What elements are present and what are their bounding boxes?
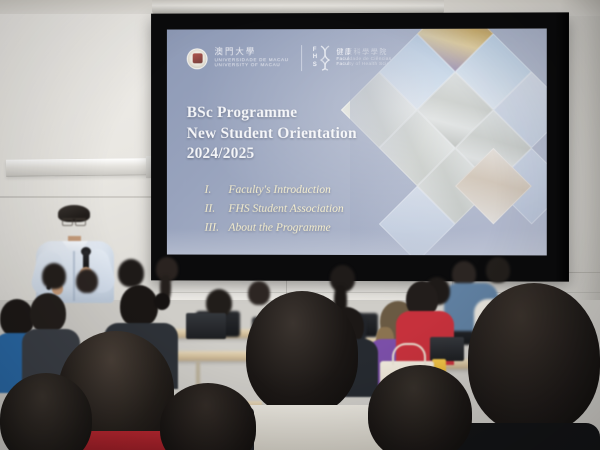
agenda-numeral: I. <box>205 181 229 200</box>
university-logo-text: 澳門大學 UNIVERSIDADE DE MACAU UNIVERSITY OF… <box>215 49 289 68</box>
agenda-item: I. Faculty's Introduction <box>205 181 344 200</box>
tote-bag-handle <box>392 343 426 365</box>
laptop <box>430 337 464 361</box>
logo-divider <box>301 45 302 71</box>
foreground-head-left-2 <box>160 383 256 450</box>
audience-head <box>120 285 158 327</box>
fhs-monogram: F H S <box>313 47 318 68</box>
whiteboard-marker-tray <box>6 158 152 177</box>
eyeglasses-icon <box>62 218 86 225</box>
audience-head <box>118 259 144 287</box>
presentation-slide: 澳門大學 UNIVERSIDADE DE MACAU UNIVERSITY OF… <box>167 28 547 255</box>
fhs-logo-mark: F H S <box>313 45 332 71</box>
lecture-hall-photo: 澳門大學 UNIVERSIDADE DE MACAU UNIVERSITY OF… <box>0 0 600 450</box>
agenda-item: II. FHS Student Association <box>205 200 344 219</box>
diamond-photo-mosaic <box>350 28 547 255</box>
audience-area <box>0 255 600 450</box>
slide-title: BSc Programme New Student Orientation 20… <box>187 103 357 165</box>
laptop <box>186 313 226 339</box>
um-crest-icon <box>187 48 208 69</box>
audience-hair-bun <box>154 293 170 310</box>
audience-head <box>42 263 66 289</box>
audience-head <box>76 269 98 293</box>
audience-head <box>486 257 510 283</box>
audience-head <box>30 293 66 333</box>
slide-title-line-2: New Student Orientation <box>187 124 357 145</box>
fhs-letter-f: F <box>313 47 318 54</box>
fhs-letter-s: S <box>313 62 318 69</box>
agenda-label: Faculty's Introduction <box>228 181 330 200</box>
agenda-numeral: II. <box>205 200 229 219</box>
foreground-head-center <box>246 291 358 415</box>
foreground-head-right <box>468 283 600 433</box>
dna-helix-icon <box>319 45 331 71</box>
slide-title-line-1: BSc Programme <box>187 103 357 124</box>
slide-title-line-3: 2024/2025 <box>187 144 357 165</box>
projection-screen: 澳門大學 UNIVERSIDADE DE MACAU UNIVERSITY OF… <box>151 12 569 281</box>
university-name-english: UNIVERSITY OF MACAU <box>215 63 289 68</box>
foreground-head-right-2 <box>368 365 472 450</box>
whiteboard-seam <box>0 196 168 198</box>
slide-bottom-fade <box>167 229 547 256</box>
audience-head <box>248 281 270 305</box>
fhs-letter-h: H <box>313 55 318 62</box>
agenda-label: FHS Student Association <box>228 200 343 219</box>
